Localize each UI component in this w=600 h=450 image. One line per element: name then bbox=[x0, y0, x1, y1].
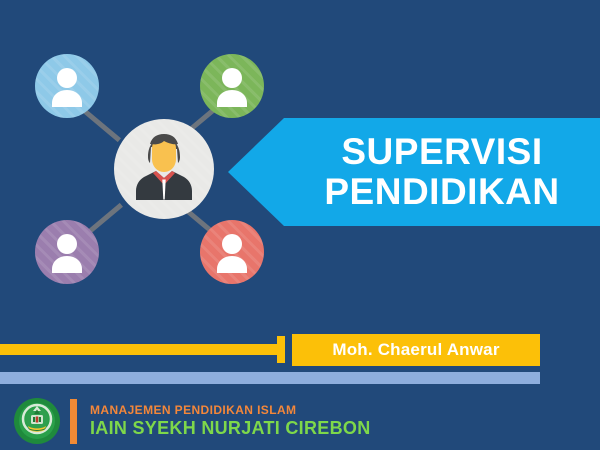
user-icon bbox=[200, 54, 264, 118]
title-line-1: SUPERVISI bbox=[341, 132, 542, 172]
institution-emblem-icon bbox=[13, 397, 61, 445]
author-name: Moh. Chaerul Anwar bbox=[332, 340, 499, 360]
title-line-2: PENDIDIKAN bbox=[324, 172, 559, 212]
user-icon bbox=[35, 220, 99, 284]
slide-footer: MANAJEMEN PENDIDIKAN ISLAM IAIN SYEKH NU… bbox=[0, 392, 600, 450]
user-icon bbox=[200, 220, 264, 284]
yellow-rule-end-tick bbox=[277, 336, 285, 363]
footer-text-block: MANAJEMEN PENDIDIKAN ISLAM IAIN SYEKH NU… bbox=[90, 403, 371, 439]
user-icon bbox=[35, 54, 99, 118]
footer-department: MANAJEMEN PENDIDIKAN ISLAM bbox=[90, 403, 371, 418]
author-badge: Moh. Chaerul Anwar bbox=[292, 334, 540, 366]
person-node-top-left[interactable] bbox=[35, 54, 99, 118]
yellow-rule bbox=[0, 344, 283, 355]
title-banner: SUPERVISI PENDIDIKAN bbox=[228, 118, 600, 226]
title-text-block: SUPERVISI PENDIDIKAN bbox=[284, 118, 600, 226]
supervisor-avatar[interactable] bbox=[114, 119, 214, 219]
businessman-icon bbox=[114, 119, 214, 219]
iain-syekh-nurjati-logo bbox=[13, 397, 61, 445]
person-node-top-right[interactable] bbox=[200, 54, 264, 118]
accent-band bbox=[0, 372, 540, 384]
presentation-slide: SUPERVISI PENDIDIKAN Moh. Chaerul Anwar bbox=[0, 0, 600, 450]
person-node-bottom-left[interactable] bbox=[35, 220, 99, 284]
footer-institution: IAIN SYEKH NURJATI CIREBON bbox=[90, 418, 371, 439]
footer-divider-bar bbox=[70, 399, 77, 444]
person-node-bottom-right[interactable] bbox=[200, 220, 264, 284]
